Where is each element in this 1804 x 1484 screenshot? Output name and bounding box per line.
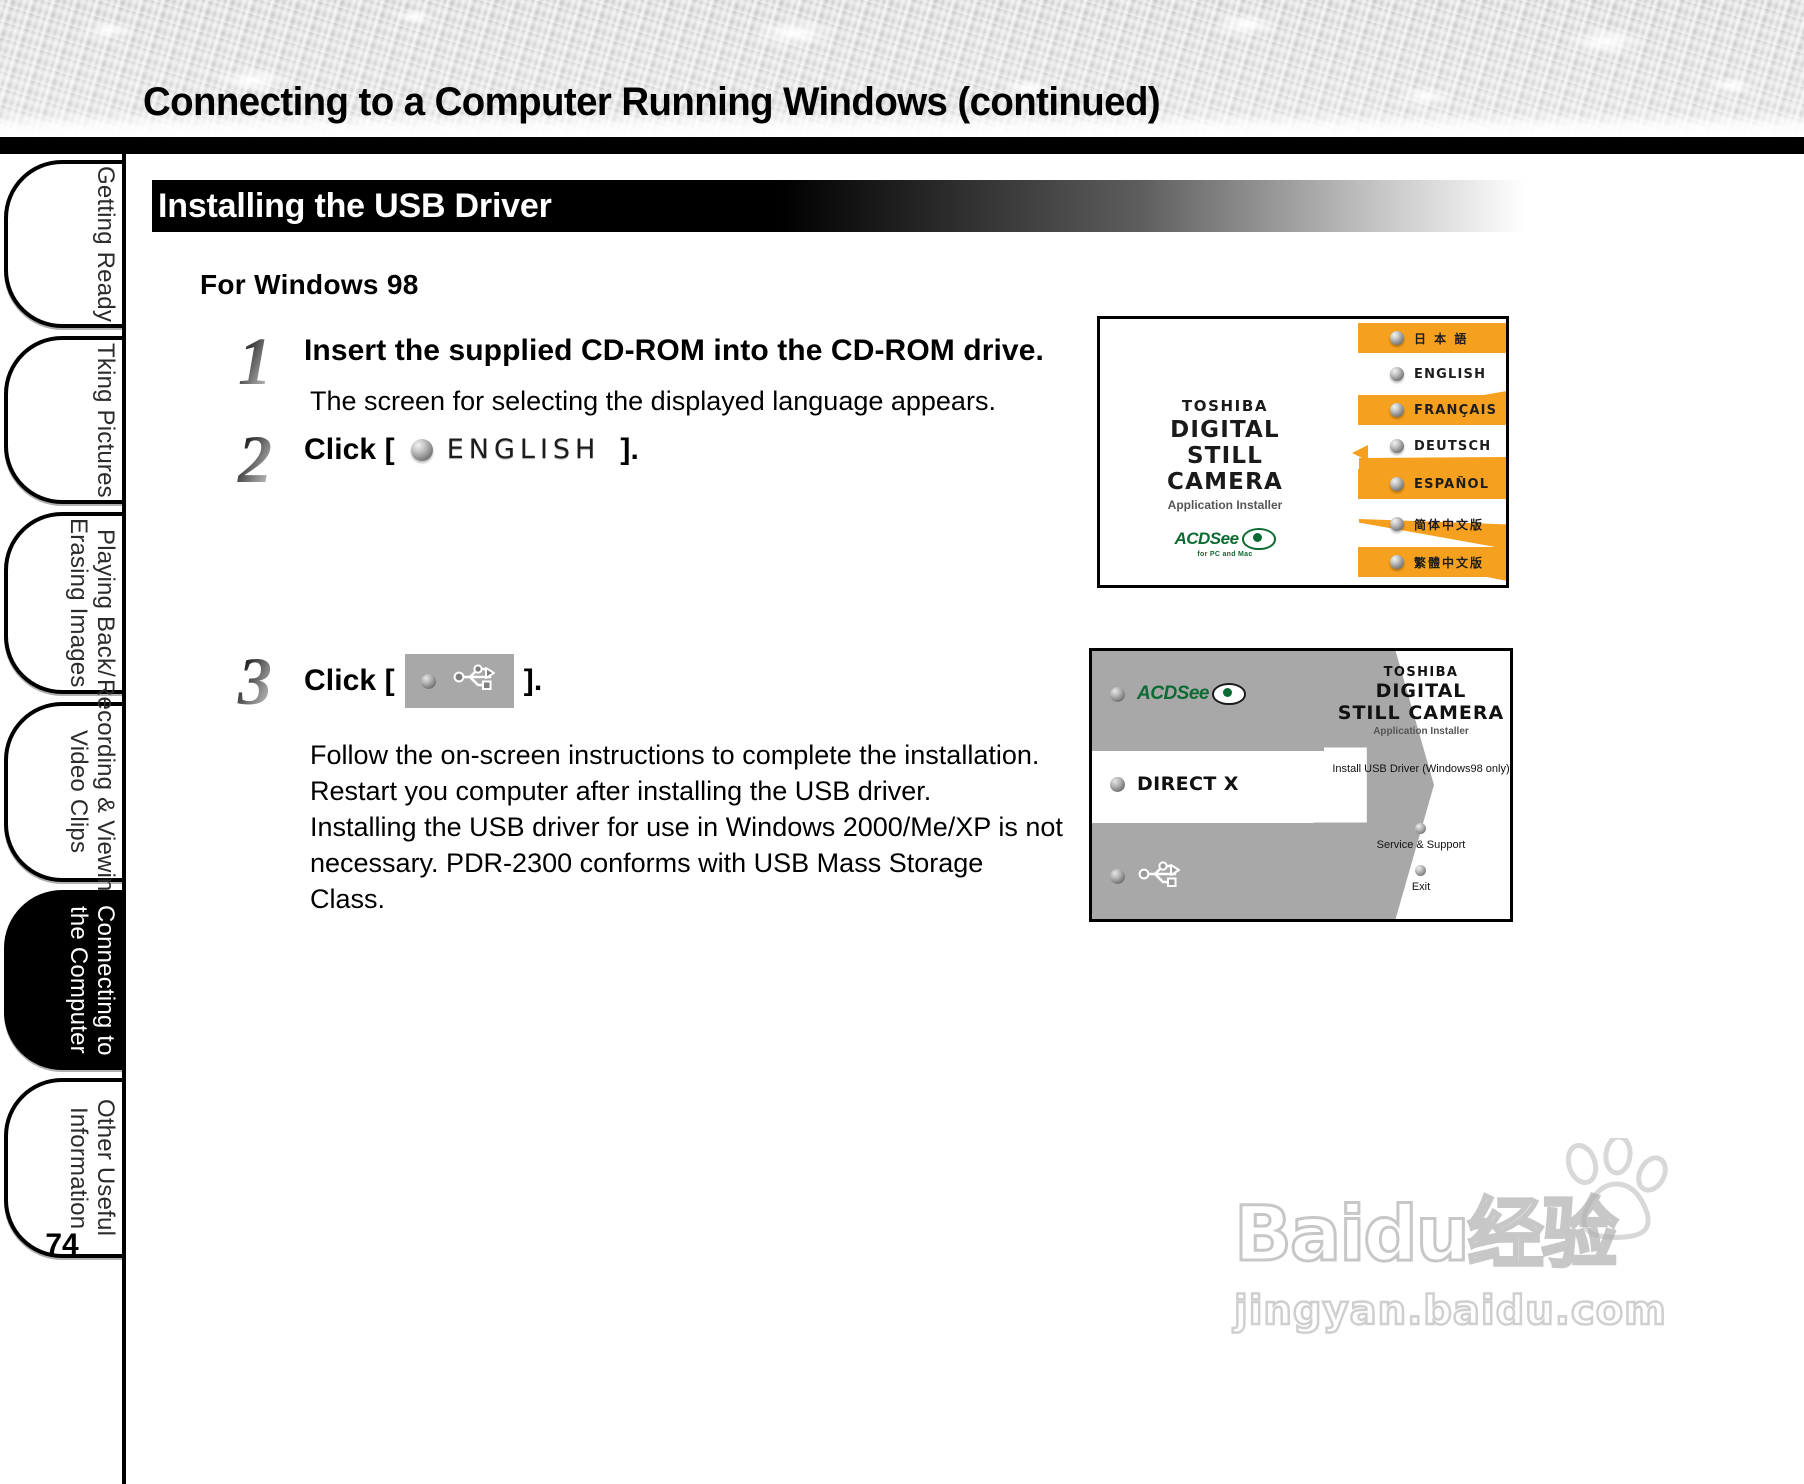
bullet-ball-icon [1110,777,1125,792]
step-heading-suffix: ]. [620,433,639,467]
application-installer-label: Application Installer [1332,726,1510,737]
paw-icon [1556,1138,1676,1248]
installer-menu-item-acdsee[interactable]: ACDSee [1110,683,1246,705]
sidebar-item-label: Getting Ready [91,164,118,324]
bullet-ball-icon [1415,865,1426,876]
exit-label[interactable]: Exit [1332,881,1510,893]
digital-wordmark: DIGITAL [1130,417,1320,443]
step-number: 2 [220,424,290,500]
bullet-ball-icon [421,674,436,689]
header-rule [0,137,1804,154]
watermark-sub-text: jingyan.baidu.com [1234,1288,1654,1334]
acdsee-label: ACDSee [1137,683,1209,705]
bullet-ball-icon [1390,555,1404,569]
step-heading-suffix: ]. [524,664,543,698]
language-option-english[interactable]: ENGLISH [1358,359,1506,389]
step-body-line-3: Installing the USB driver for use in Win… [310,810,1110,846]
section-header-tick [144,180,152,232]
step-heading: Click [ [304,654,542,708]
bullet-ball-icon [411,439,433,461]
figure1-branding: TOSHIBA DIGITAL STILL CAMERA Application… [1130,397,1320,558]
language-option-traditional-chinese[interactable]: 繁體中文版 [1358,547,1506,577]
step-number: 3 [220,646,290,722]
toshiba-wordmark: TOSHIBA [1130,397,1320,415]
watermark-main-text: Baidu经验 [1234,1172,1654,1282]
installer-menu-right-column: TOSHIBA DIGITAL STILL CAMERA Application… [1332,651,1510,919]
bullet-ball-icon [1110,687,1125,702]
bullet-ball-icon [1390,517,1404,531]
sidebar-item-connecting-to-the-computer[interactable]: Connecting to the Computer [4,890,122,1070]
step-heading-prefix: Click [ [304,433,395,467]
sidebar-tab-rail: Getting Ready Tking Pictures Playing Bac… [0,154,124,1304]
toshiba-wordmark: TOSHIBA [1332,665,1510,680]
acdsee-label: ACDSee [1174,529,1238,549]
still-camera-wordmark: STILL CAMERA [1332,702,1510,724]
installer-menu-item-directx[interactable]: DIRECT X [1110,773,1239,795]
directx-label: DIRECT X [1137,773,1239,795]
figure-language-select: TOSHIBA DIGITAL STILL CAMERA Application… [1097,316,1509,588]
figure-installer-menu: ACDSee DIRECT X [1089,648,1513,922]
language-label: 繁體中文版 [1414,554,1484,571]
bullet-ball-icon [1110,869,1125,884]
installer-menu-left-column: ACDSee DIRECT X [1092,651,1324,919]
bullet-ball-icon [1390,403,1404,417]
bullet-ball-icon [1390,477,1404,491]
still-camera-wordmark: STILL CAMERA [1130,443,1320,495]
step-body: The screen for selecting the displayed l… [310,384,996,420]
language-label: ENGLISH [1414,367,1486,382]
usb-icon [1137,857,1183,896]
bullet-ball-icon [1415,823,1426,834]
language-label: DEUTSCH [1414,439,1491,454]
baidu-watermark: Baidu经验 jingyan.baidu.com [1234,1172,1654,1352]
service-support-label[interactable]: Service & Support [1332,839,1510,851]
step-heading: Insert the supplied CD-ROM into the CD-R… [304,334,1044,368]
language-label: 日 本 語 [1414,330,1468,347]
sidebar-item-label: Recording & Viewing Video Clips [64,706,118,878]
bullet-ball-icon [1390,367,1404,381]
step-body-line-1: Follow the on-screen instructions to com… [310,738,1039,774]
page-title: Connecting to a Computer Running Windows… [143,80,1160,125]
language-option-francais[interactable]: FRANÇAIS [1358,395,1506,425]
step-number: 1 [220,326,290,402]
installer-menu-item-usb-driver[interactable] [1110,857,1183,896]
install-usb-driver-label[interactable]: Install USB Driver (Windows98 only) [1332,763,1510,775]
os-heading: For Windows 98 [200,269,419,301]
language-option-japanese[interactable]: 日 本 語 [1358,323,1506,353]
language-option-deutsch[interactable]: DEUTSCH [1358,431,1506,461]
english-button-label: ENGLISH [447,434,601,465]
sidebar-item-playing-back-erasing-images[interactable]: Playing Back/ Erasing Images [4,512,122,694]
language-option-espanol[interactable]: ESPAÑOL [1358,469,1506,499]
sidebar-item-label: Playing Back/ Erasing Images [64,516,118,690]
application-installer-label: Application Installer [1130,498,1320,512]
digital-wordmark: DIGITAL [1332,680,1510,702]
usb-icon [452,660,498,702]
step-heading-prefix: Click [ [304,664,395,698]
language-label: FRANÇAIS [1414,403,1497,418]
language-label: 简体中文版 [1414,516,1484,533]
language-option-simplified-chinese[interactable]: 简体中文版 [1358,509,1506,539]
usb-driver-button[interactable] [405,654,514,708]
acdsee-eye-icon [1242,528,1276,550]
step-body-line-2: Restart you computer after installing th… [310,774,931,810]
section-title: Installing the USB Driver [158,184,552,228]
sidebar-item-taking-pictures[interactable]: Tking Pictures [4,336,122,504]
step-body-line-4: necessary. PDR-2300 conforms with USB Ma… [310,846,1050,917]
sidebar-item-label: Tking Pictures [91,340,118,500]
sidebar-item-label: Connecting to the Computer [64,894,118,1066]
sidebar-item-recording-viewing-video-clips[interactable]: Recording & Viewing Video Clips [4,702,122,882]
page-number: 74 [45,1228,78,1262]
main-content: Installing the USB Driver For Windows 98… [126,154,1804,1484]
figure2-branding: TOSHIBA DIGITAL STILL CAMERA Application… [1332,665,1510,737]
sidebar-item-getting-ready[interactable]: Getting Ready [4,160,122,328]
acdsee-sub-label: for PC and Mac [1130,551,1320,558]
step-heading: Click [ ENGLISH ]. [304,432,639,467]
bullet-ball-icon [1390,331,1404,345]
bullet-ball-icon [1390,439,1404,453]
acdsee-eye-icon [1212,683,1246,705]
acdsee-logo: ACDSee [1137,683,1246,705]
acdsee-logo: ACDSee [1174,528,1275,550]
language-label: ESPAÑOL [1414,477,1489,492]
english-language-button[interactable]: ENGLISH [405,432,611,467]
